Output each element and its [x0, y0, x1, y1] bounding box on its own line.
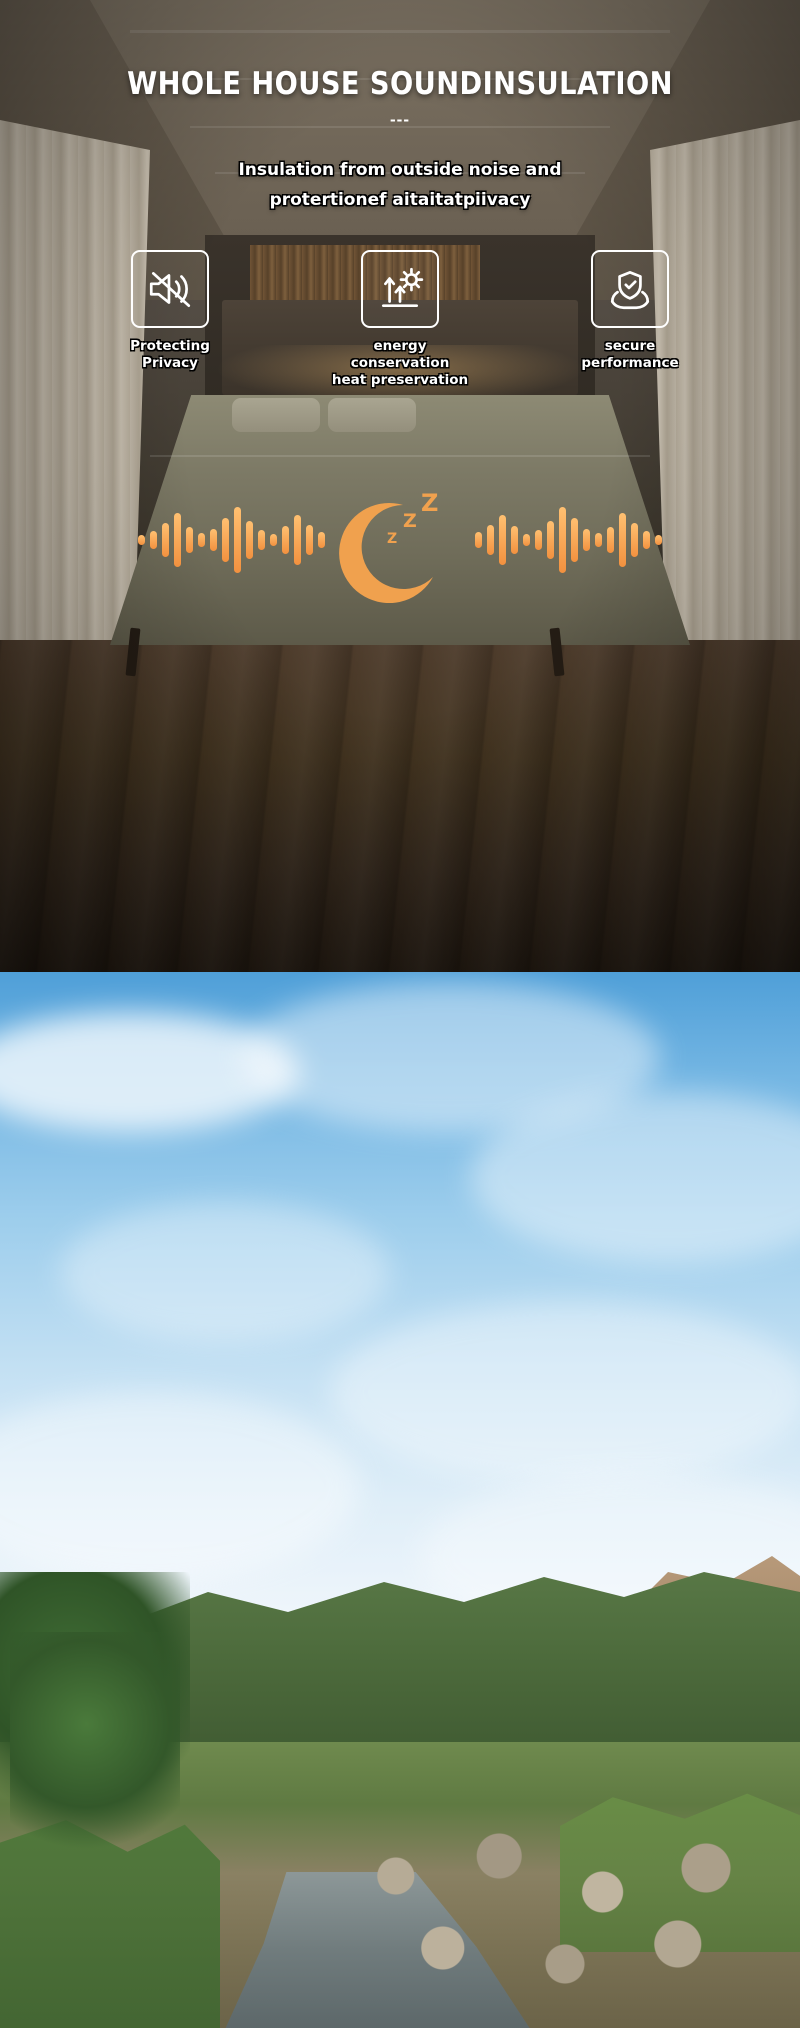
duvet-fold [150, 455, 650, 457]
feature-label-line-1: energy conservation [329, 338, 471, 372]
wave-bar [655, 535, 662, 545]
feature-label-line-2: Privacy [99, 355, 241, 372]
palm-tree [10, 1632, 180, 1862]
feature-label-line-2: heat preservation [329, 372, 471, 389]
feature-energy-conservation[interactable]: energy conservation heat preservation [329, 250, 471, 389]
wave-bar [174, 513, 181, 567]
wave-bar [198, 533, 205, 547]
crescent-moon-icon: Z Z Z [325, 475, 475, 605]
muted-speaker-icon [131, 250, 209, 328]
wave-bar [559, 507, 566, 573]
peripheral-protection-panel: PERIPHERAL PROTECTION SYSTEM --- Fluoroc… [0, 972, 800, 2028]
pillow [328, 398, 416, 432]
subtitle: Insulation from outside noise and proter… [0, 155, 800, 215]
wood-floor [0, 640, 800, 972]
sound-insulation-panel: WHOLE HOUSE SOUNDINSULATION --- Insulati… [0, 0, 800, 972]
feature-label: secure performance [559, 338, 701, 372]
wave-bar [222, 518, 229, 562]
wave-bar [186, 527, 193, 553]
sound-wave-left [138, 485, 325, 595]
page-title: WHOLE HOUSE SOUNDINSULATION [48, 66, 752, 102]
wave-bar [619, 513, 626, 567]
wave-bar [210, 529, 217, 551]
subtitle-line-2: protertionef aitaitatpiivacy [0, 185, 800, 215]
feature-label-line-2: performance [559, 355, 701, 372]
title-divider: --- [0, 110, 800, 130]
subtitle-line-1: Insulation from outside noise and [0, 155, 800, 185]
wave-bar [487, 525, 494, 555]
feature-label-line-1: secure [559, 338, 701, 355]
sound-wave-graphic: Z Z Z [0, 470, 800, 610]
sleep-z-medium: Z [403, 510, 417, 532]
wave-bar [523, 534, 530, 546]
heat-insulation-icon [361, 250, 439, 328]
wave-bar [162, 523, 169, 557]
wave-bar [150, 531, 157, 549]
feature-label: Protecting Privacy [99, 338, 241, 372]
wave-bar [535, 530, 542, 550]
cloud [330, 1302, 800, 1482]
wave-bar [475, 532, 482, 548]
wave-bar [318, 532, 325, 548]
feature-label: energy conservation heat preservation [329, 338, 471, 389]
pillow [232, 398, 320, 432]
wave-bar [270, 534, 277, 546]
wave-bar [631, 523, 638, 557]
wave-bar [511, 526, 518, 554]
wave-bar [547, 521, 554, 559]
wave-bar [571, 518, 578, 562]
wave-bar [234, 507, 241, 573]
wave-bar [258, 530, 265, 550]
feature-protecting-privacy[interactable]: Protecting Privacy [99, 250, 241, 389]
feature-label-line-1: Protecting [99, 338, 241, 355]
wave-bar [138, 535, 145, 545]
feature-icon-row: Protecting Privacy energy conservation h… [0, 250, 800, 389]
wave-bar [583, 529, 590, 551]
wave-bar [306, 525, 313, 555]
wave-bar [595, 533, 602, 547]
rock-garden [330, 1832, 800, 2028]
wave-bar [294, 515, 301, 565]
wave-bar [246, 521, 253, 559]
cloud [60, 1202, 390, 1342]
wave-bar [643, 531, 650, 549]
sleep-z-small: Z [387, 531, 397, 547]
sound-wave-right [475, 485, 662, 595]
feature-secure-performance[interactable]: secure performance [559, 250, 701, 389]
sleep-z-large: Z [421, 489, 438, 517]
shield-in-hands-icon [591, 250, 669, 328]
wave-bar [282, 526, 289, 554]
wave-bar [499, 515, 506, 565]
wave-bar [607, 527, 614, 553]
ceiling-beam [130, 30, 670, 33]
